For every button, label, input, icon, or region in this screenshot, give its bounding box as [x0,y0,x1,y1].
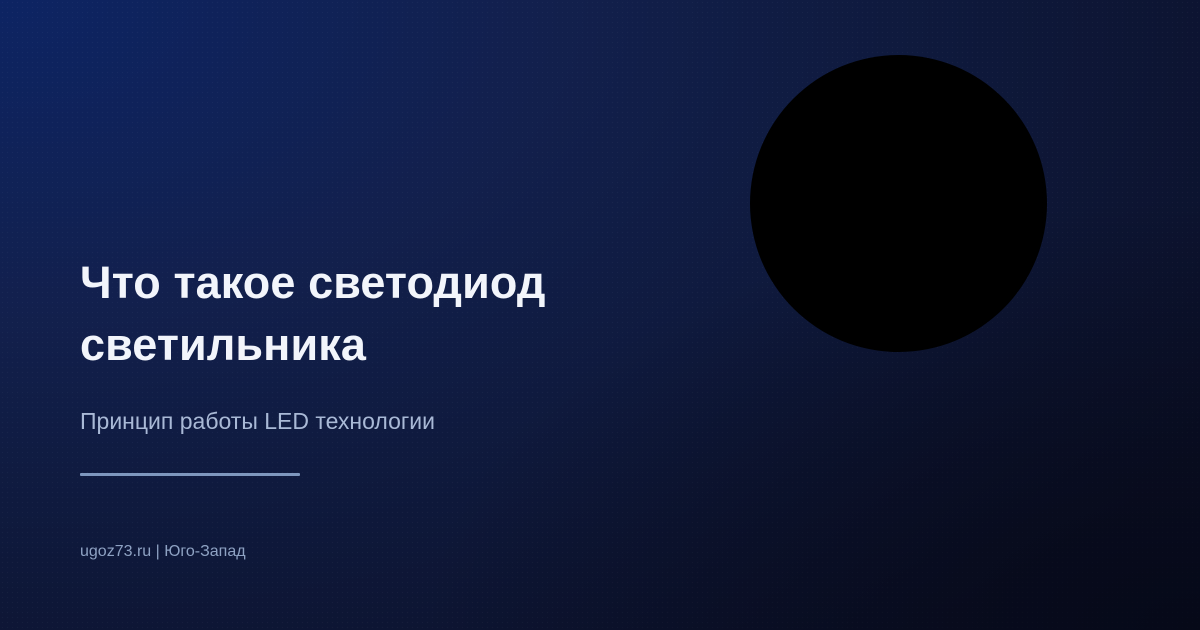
page-subtitle: Принцип работы LED технологии [80,406,435,436]
card-content: Что такое светодиод светильника Принцип … [80,0,700,630]
source-attribution: ugoz73.ru | Юго-Запад [80,541,246,563]
decorative-circle [750,55,1047,352]
social-share-card: Что такое светодиод светильника Принцип … [0,0,1200,630]
title-divider [80,473,300,476]
page-title: Что такое светодиод светильника [80,252,680,376]
